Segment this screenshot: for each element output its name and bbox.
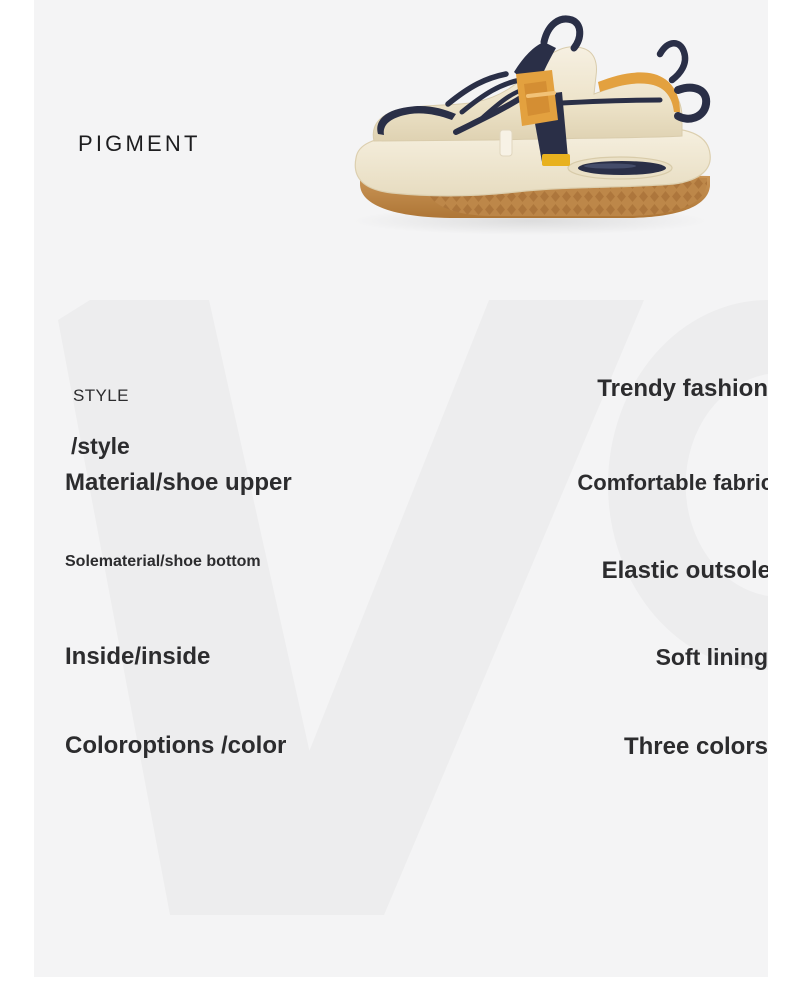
spec-label-style: STYLE /style (71, 360, 130, 459)
spec-value-material: Comfortable fabric (348, 471, 768, 496)
spec-value-inside: Soft lining (348, 645, 768, 671)
spec-label-solematerial: Solematerial/shoe bottom (65, 553, 261, 571)
spec-label-style-caption: STYLE (73, 386, 130, 405)
content-panel: PIGMENT (34, 0, 768, 977)
spec-label-inside: Inside/inside (65, 644, 210, 671)
spec-label-style-main: /style (71, 433, 130, 459)
spec-list: STYLE /style Trendy fashion Material/sho… (34, 0, 768, 977)
spec-label-material: Material/shoe upper (65, 470, 292, 497)
spec-label-coloroptions: Coloroptions /color (65, 733, 286, 760)
spec-value-coloroptions: Three colors (348, 734, 768, 761)
product-spec-page: PIGMENT (0, 0, 790, 1000)
spec-value-style: Trendy fashion (348, 376, 768, 403)
spec-value-solematerial: Elastic outsole (348, 558, 768, 585)
